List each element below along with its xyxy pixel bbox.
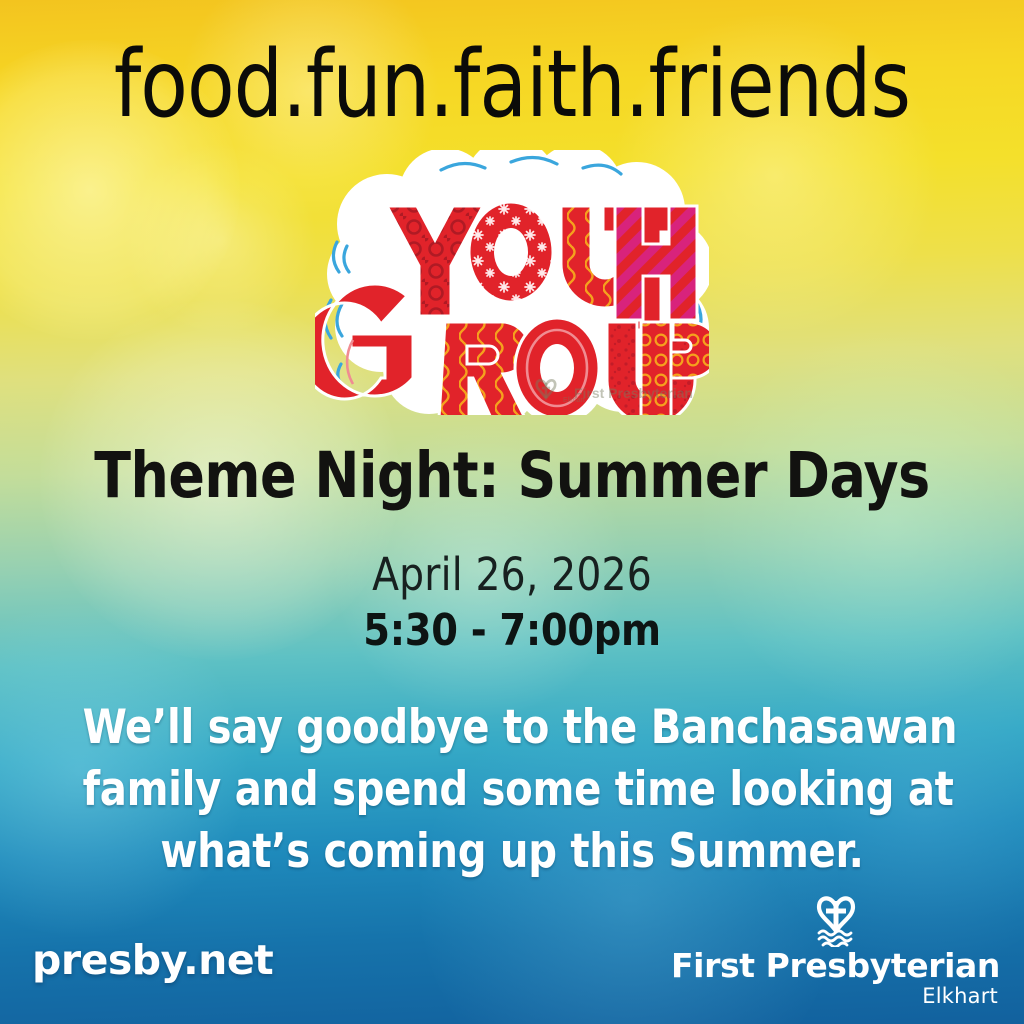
description-line: family and spend some time looking at (83, 759, 942, 821)
website-url[interactable]: presby.net (32, 936, 273, 984)
theme-title: Theme Night: Summer Days (26, 443, 999, 509)
bokeh-circle (120, 140, 320, 340)
event-date: April 26, 2026 (15, 548, 1008, 601)
event-time: 5:30 - 7:00pm (15, 605, 1008, 656)
church-logo: First Presbyterian Elkhart (671, 891, 1000, 1010)
youth-group-logo: First Presbyterian Elkhart (315, 150, 709, 415)
logo-watermark-name: First Presbyterian (574, 385, 693, 401)
church-name: First Presbyterian (671, 949, 1000, 982)
logo-watermark: First Presbyterian Elkhart (523, 378, 693, 408)
poster-canvas: food.fun.faith.friends (0, 0, 1024, 1024)
description-line: what’s coming up this Summer. (83, 821, 942, 883)
church-city: Elkhart (922, 982, 998, 1010)
description-line: We’ll say goodbye to the Banchasawan (83, 697, 942, 759)
event-description: We’ll say goodbye to the Banchasawan fam… (83, 697, 942, 883)
logo-watermark-city: Elkhart (563, 397, 585, 404)
cross-heart-water-icon (807, 891, 865, 947)
tagline-heading: food.fun.faith.friends (36, 38, 988, 131)
